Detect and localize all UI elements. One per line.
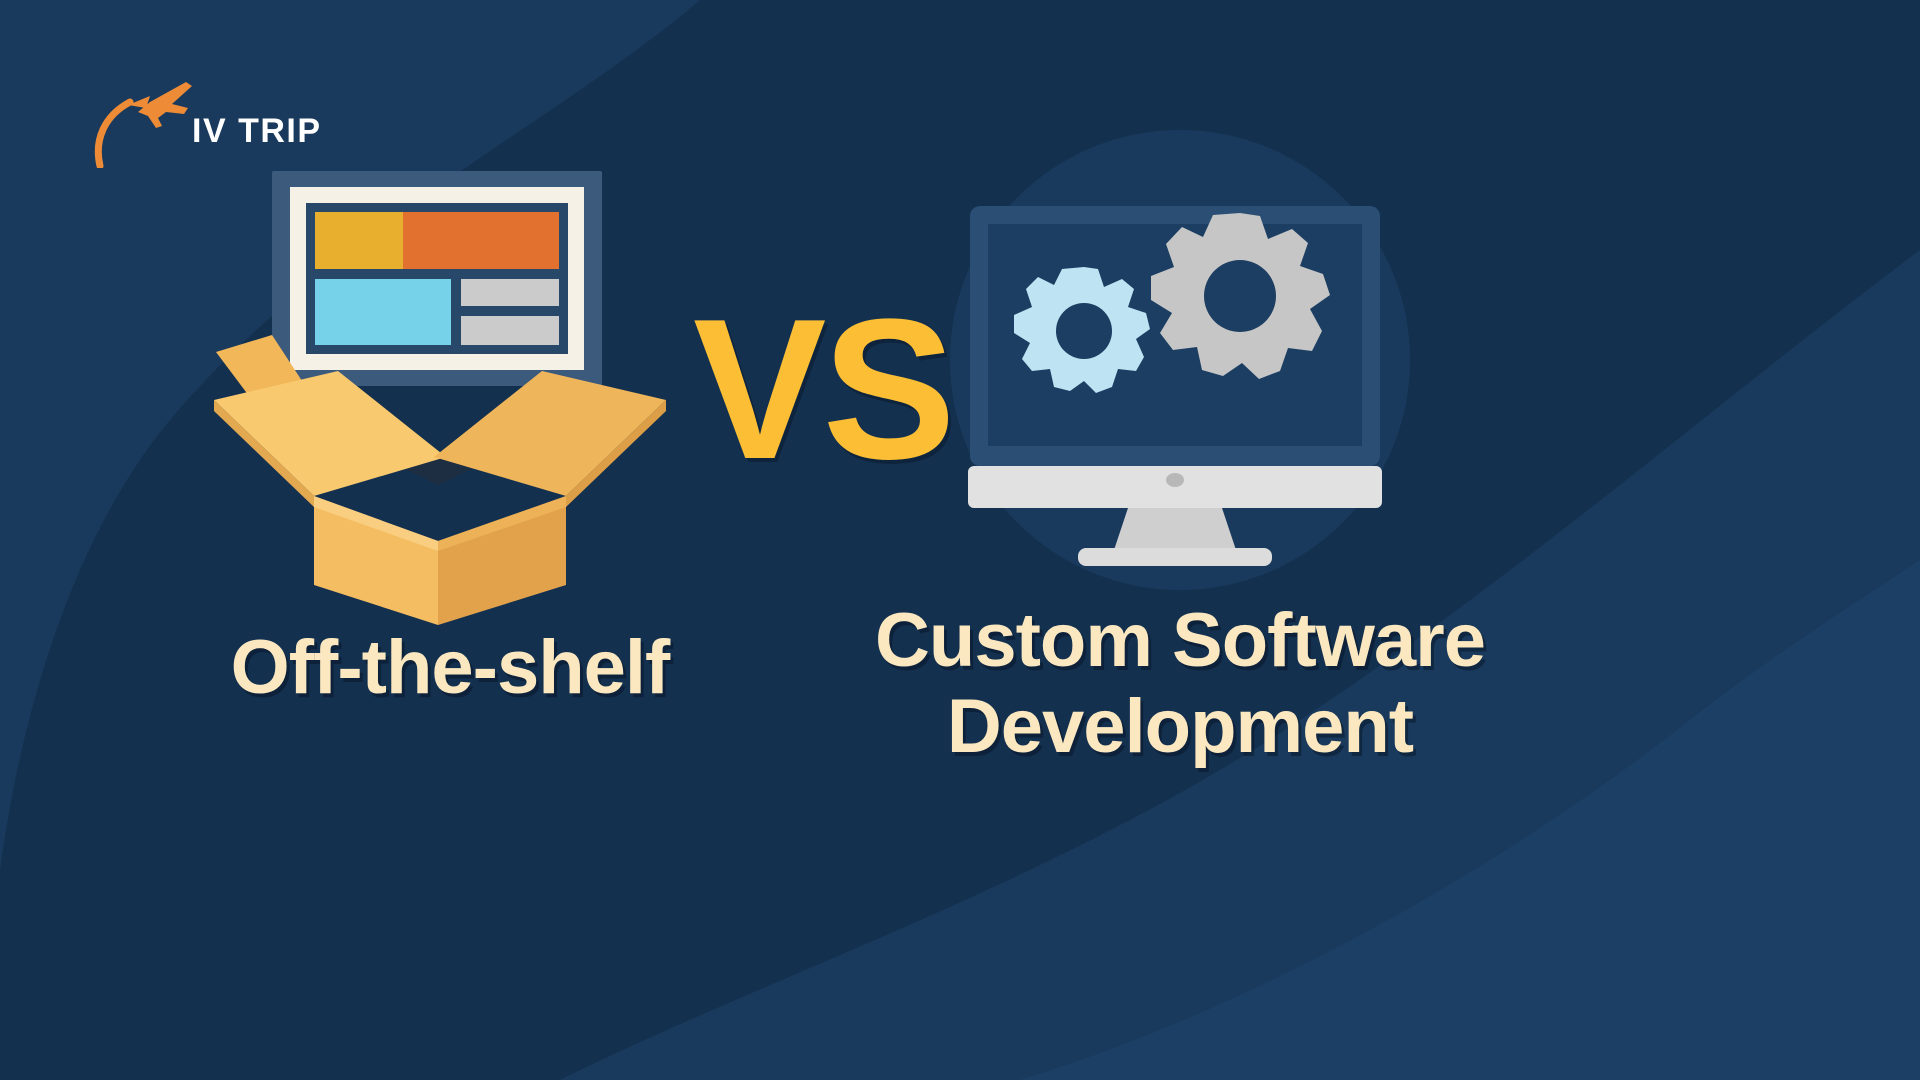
tile-gray-1 — [461, 279, 559, 306]
caption-off-the-shelf: Off-the-shelf — [120, 625, 780, 711]
gear-gray-hub — [1204, 260, 1276, 332]
tile-gray-2 — [461, 316, 559, 345]
poster-canvas: IV TRIP — [0, 0, 1920, 1080]
monitor-base — [1078, 548, 1272, 566]
caption-custom-software-development: Custom Software Development — [820, 598, 1540, 770]
box-front-right — [438, 496, 566, 625]
monitor-neck — [1114, 508, 1236, 550]
tile-yellow — [315, 212, 403, 269]
gear-blue-hub — [1056, 303, 1112, 359]
box-front-left — [314, 496, 438, 625]
logo-wordmark: IV TRIP — [192, 112, 322, 151]
tile-cyan — [315, 279, 451, 345]
tile-orange — [403, 212, 559, 269]
desktop-monitor-with-gears — [940, 150, 1410, 580]
open-box-with-dashboard-screen — [210, 155, 670, 630]
vs-label: VS — [693, 290, 933, 490]
monitor-logo-mark — [1166, 473, 1184, 487]
